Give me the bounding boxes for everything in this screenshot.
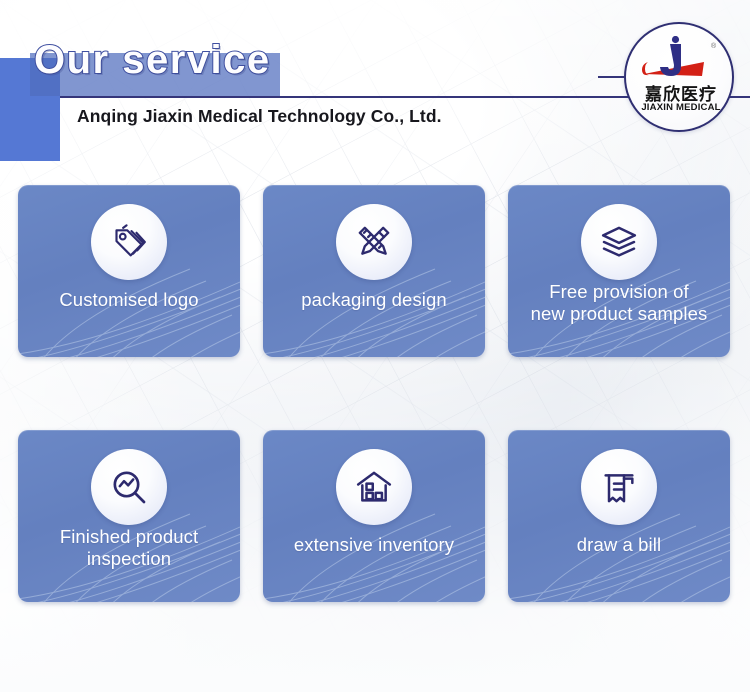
card-mesh-decoration (20, 267, 240, 357)
card-label: Customised logo (26, 289, 232, 311)
warehouse-boxes-icon (336, 449, 412, 525)
price-tags-icon (91, 204, 167, 280)
layers-stack-icon (581, 204, 657, 280)
card-label: Free provision of new product samples (516, 281, 722, 324)
company-name: Anqing Jiaxin Medical Technology Co., Lt… (77, 106, 442, 127)
card-label: Finished product inspection (26, 526, 232, 569)
service-card-draw-a-bill[interactable]: draw a bill (508, 430, 730, 602)
page-title: Our service (34, 38, 271, 83)
svg-text:®: ® (711, 42, 717, 50)
service-card-free-samples[interactable]: Free provision of new product samples (508, 185, 730, 357)
card-mesh-decoration (265, 512, 485, 602)
card-mesh-decoration (510, 512, 730, 602)
service-card-extensive-inventory[interactable]: extensive inventory (263, 430, 485, 602)
pen-ruler-design-icon (336, 204, 412, 280)
company-logo: ® 嘉欣医疗 JIAXIN MEDICAL (624, 22, 734, 132)
invoice-receipt-icon (581, 449, 657, 525)
page-header: Our service Anqing Jiaxin Medical Techno… (0, 0, 750, 172)
card-label: packaging design (271, 289, 477, 311)
card-mesh-decoration (265, 267, 485, 357)
service-card-customised-logo[interactable]: Customised logo (18, 185, 240, 357)
logo-j-mark-icon: ® (626, 36, 734, 82)
service-card-packaging-design[interactable]: packaging design (263, 185, 485, 357)
logo-connector-line (598, 76, 624, 78)
service-card-grid: Customised logo packaging design (18, 185, 732, 602)
card-label: draw a bill (516, 534, 722, 556)
service-card-finished-product-inspection[interactable]: Finished product inspection (18, 430, 240, 602)
magnifier-chart-icon (91, 449, 167, 525)
card-label: extensive inventory (271, 534, 477, 556)
logo-name-english: JIAXIN MEDICAL (626, 102, 734, 113)
